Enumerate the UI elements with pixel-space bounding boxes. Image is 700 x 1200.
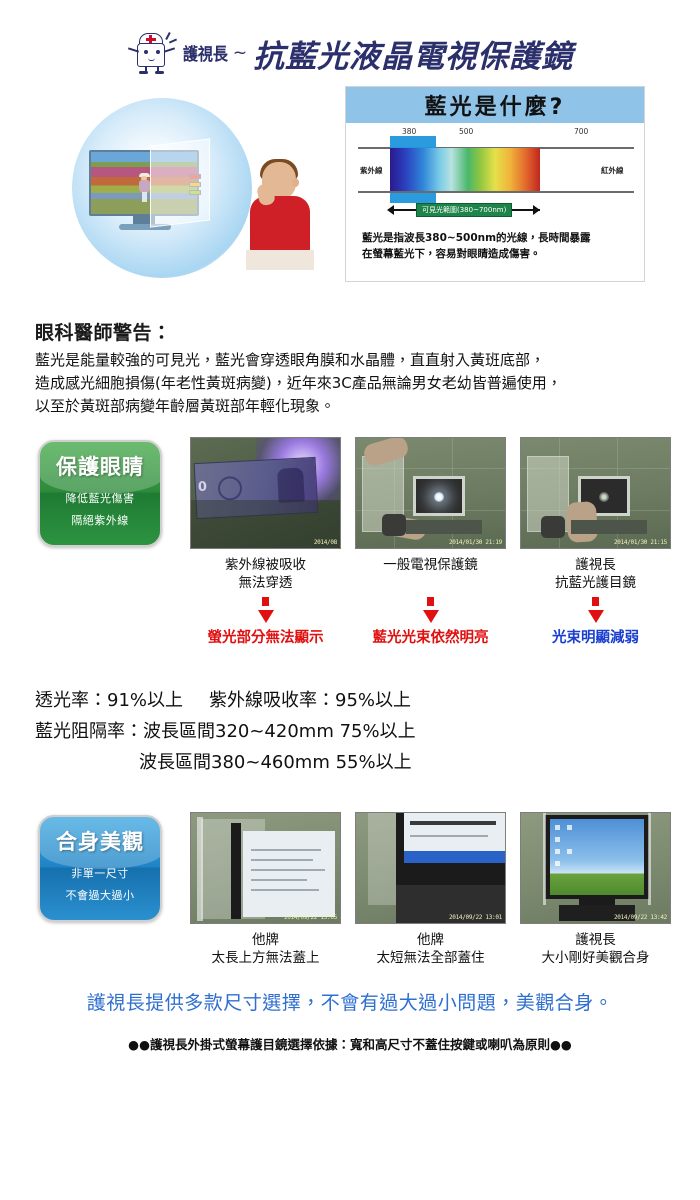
tick-380: 380 bbox=[402, 127, 416, 136]
spectrum-axis-bottom bbox=[358, 191, 634, 193]
size-tagline: 護視長提供多款尺寸選擇，不會有過大過小問題，美觀合身。 bbox=[0, 988, 700, 1015]
spec-line-3: 波長區間380~460mm 55%以上 bbox=[35, 748, 675, 779]
protect-conclusion-2: 藍光光束依然明亮 bbox=[355, 626, 506, 647]
nurse-mascot-icon bbox=[127, 30, 179, 76]
protect-conclusion-3: 光束明顯減弱 bbox=[520, 626, 671, 647]
selection-footnote: ●●護視長外掛式螢幕護目鏡選擇依據：寬和高尺寸不蓋住按鍵或喇叭為原則●● bbox=[0, 1034, 700, 1053]
photo-timestamp: 2014/09/22 13:01 bbox=[449, 914, 502, 921]
protect-photo-row: 0 2014/08 紫外線被吸收 無法穿透 螢光部分無法顯示 bbox=[190, 437, 670, 647]
protect-column-1: 0 2014/08 紫外線被吸收 無法穿透 螢光部分無法顯示 bbox=[190, 437, 341, 647]
visible-range-label: 可見光範圍(380~700nm) bbox=[416, 203, 512, 217]
fit-column-2: 2014/09/22 13:01 他牌 太短無法全部蓋住 bbox=[355, 812, 506, 967]
brand-mark: 護視長 bbox=[183, 41, 228, 65]
fit-caption-1: 他牌 太長上方無法蓋上 bbox=[190, 931, 341, 967]
caption-line-1: 他牌 bbox=[355, 931, 506, 949]
fit-caption-2: 他牌 太短無法全部蓋住 bbox=[355, 931, 506, 967]
caption-line-2: 無法穿透 bbox=[190, 574, 341, 592]
brand-flourish: ~ bbox=[233, 43, 247, 63]
info-card-heading: 藍光是什麼? bbox=[425, 89, 566, 121]
child-viewer-figure bbox=[250, 162, 310, 272]
protect-column-3: 2014/01/30 21:15 護視長 抗藍光護目鏡 光束明顯減弱 bbox=[520, 437, 671, 647]
ir-label: 紅外線 bbox=[601, 165, 624, 176]
tick-700: 700 bbox=[574, 127, 588, 136]
too-short-protector-photo: 2014/09/22 13:01 bbox=[355, 812, 506, 924]
huhsichang-protector-beam-photo: 2014/01/30 21:15 bbox=[520, 437, 671, 549]
caption-line-2 bbox=[355, 574, 506, 592]
eye-protection-section: 保護眼睛 降低藍光傷害 隔絕紫外線 0 2014/08 紫外線被吸收 無法穿透 bbox=[0, 437, 700, 662]
caption-line-1: 護視長 bbox=[520, 931, 671, 949]
doctor-warning-block: 眼科醫師警告： 藍光是能量較強的可見光，藍光會穿透眼角膜和水晶體，直直射入黃班底… bbox=[35, 318, 675, 417]
down-arrow-icon bbox=[355, 597, 506, 623]
transmittance-label: 透光率： bbox=[35, 690, 107, 711]
caption-line-1: 紫外線被吸收 bbox=[190, 556, 341, 574]
protect-conclusion-1: 螢光部分無法顯示 bbox=[190, 626, 341, 647]
fit-caption-3: 護視長 大小剛好美觀合身 bbox=[520, 931, 671, 967]
protect-caption-2: 一般電視保護鏡 bbox=[355, 556, 506, 592]
photo-timestamp: 2014/01/30 21:15 bbox=[614, 539, 667, 546]
protect-eyes-badge: 保護眼睛 降低藍光傷害 隔絕紫外線 bbox=[38, 440, 162, 547]
spectrum-diagram: 380 500 700 紫外線 紅外線 可見光範圍(380~700nm) bbox=[346, 123, 644, 228]
product-infographic-page: 護視長 ~ 抗藍光液晶電視保護鏡 bbox=[0, 0, 700, 1200]
caption-line-1: 一般電視保護鏡 bbox=[355, 556, 506, 574]
fit-badge-sub-1: 非單一尺寸 bbox=[46, 865, 154, 881]
visible-spectrum-band bbox=[390, 148, 540, 191]
protect-badge-sub-2: 隔絕紫外線 bbox=[46, 512, 154, 528]
protector-tabs-icon bbox=[189, 174, 201, 198]
caption-line-2: 太短無法全部蓋住 bbox=[355, 949, 506, 967]
warning-line-1: 藍光是能量較強的可見光，藍光會穿透眼角膜和水晶體，直直射入黃班底部， bbox=[35, 349, 675, 372]
caption-line-2: 太長上方無法蓋上 bbox=[190, 949, 341, 967]
specifications-block: 透光率：91%以上紫外線吸收率：95%以上 藍光阻隔率：波長區間320~420m… bbox=[35, 686, 675, 779]
uv-label: 紫外線 bbox=[360, 165, 383, 176]
page-header: 護視長 ~ 抗藍光液晶電視保護鏡 bbox=[0, 22, 700, 84]
blue-light-info-card: 藍光是什麼? 380 500 700 紫外線 紅外線 可見光範圍(380~700… bbox=[345, 86, 645, 282]
info-note-line-2: 在螢幕藍光下，容易對眼睛造成傷害。 bbox=[362, 246, 628, 262]
info-note-line-1: 藍光是指波長380~500nm的光線，長時間暴露 bbox=[362, 230, 628, 246]
fit-photo-row: 2014/09/22 13:05 他牌 太長上方無法蓋上 20 bbox=[190, 812, 670, 967]
uv-absorption-label: 紫外線吸收率： bbox=[209, 690, 335, 711]
hero-row: 藍光是什麼? 380 500 700 紫外線 紅外線 可見光範圍(380~700… bbox=[0, 86, 700, 296]
photo-timestamp: 2014/01/30 21:19 bbox=[449, 539, 502, 546]
range-arrow-left-icon bbox=[387, 205, 394, 215]
transmittance-value: 91%以上 bbox=[107, 690, 183, 711]
page-title: 抗藍光液晶電視保護鏡 bbox=[253, 31, 573, 76]
fit-badge-sub-2: 不會過大過小 bbox=[46, 887, 154, 903]
fit-column-1: 2014/09/22 13:05 他牌 太長上方無法蓋上 bbox=[190, 812, 341, 967]
photo-timestamp: 2014/09/22 13:42 bbox=[614, 914, 667, 921]
warning-heading: 眼科醫師警告： bbox=[35, 318, 675, 345]
photo-timestamp: 2014/09/22 13:05 bbox=[284, 914, 337, 921]
down-arrow-icon bbox=[520, 597, 671, 623]
warning-line-3: 以至於黃斑部病變年齡層黃斑部年輕化現象。 bbox=[35, 395, 675, 418]
fit-column-3: 2014/09/22 13:42 護視長 大小剛好美觀合身 bbox=[520, 812, 671, 967]
protect-caption-3: 護視長 抗藍光護目鏡 bbox=[520, 556, 671, 592]
info-card-header: 藍光是什麼? bbox=[346, 87, 644, 123]
caption-line-2: 抗藍光護目鏡 bbox=[520, 574, 671, 592]
fit-badge-title: 合身美觀 bbox=[46, 826, 154, 856]
spec-line-1: 透光率：91%以上紫外線吸收率：95%以上 bbox=[35, 686, 675, 717]
fit-beauty-badge: 合身美觀 非單一尺寸 不會過大過小 bbox=[38, 815, 162, 922]
protect-badge-sub-1: 降低藍光傷害 bbox=[46, 490, 154, 506]
tv-usage-photo bbox=[62, 90, 334, 290]
spec-line-2: 藍光阻隔率：波長區間320~420mm 75%以上 bbox=[35, 717, 675, 748]
too-long-protector-photo: 2014/09/22 13:05 bbox=[190, 812, 341, 924]
perfect-fit-protector-photo: 2014/09/22 13:42 bbox=[520, 812, 671, 924]
down-arrow-icon bbox=[190, 597, 341, 623]
info-card-note: 藍光是指波長380~500nm的光線，長時間暴露 在螢幕藍光下，容易對眼睛造成傷… bbox=[346, 228, 644, 263]
caption-line-1: 護視長 bbox=[520, 556, 671, 574]
warning-line-2: 造成感光細胞損傷(年老性黃斑病變)，近年來3C產品無論男女老幼皆普遍使用， bbox=[35, 372, 675, 395]
caption-line-2: 大小剛好美觀合身 bbox=[520, 949, 671, 967]
size-fit-section: 合身美觀 非單一尺寸 不會過大過小 2014/09/22 13:05 bbox=[0, 812, 700, 977]
protect-caption-1: 紫外線被吸收 無法穿透 bbox=[190, 556, 341, 592]
range-arrow-right-icon bbox=[533, 205, 540, 215]
tick-500: 500 bbox=[459, 127, 473, 136]
caption-line-1: 他牌 bbox=[190, 931, 341, 949]
protect-badge-title: 保護眼睛 bbox=[46, 451, 154, 481]
uv-absorption-value: 95%以上 bbox=[335, 690, 411, 711]
normal-protector-beam-photo: 2014/01/30 21:19 bbox=[355, 437, 506, 549]
uv-banknote-photo: 0 2014/08 bbox=[190, 437, 341, 549]
screen-protector-sheet bbox=[150, 138, 210, 227]
photo-timestamp: 2014/08 bbox=[314, 539, 337, 546]
protect-column-2: 2014/01/30 21:19 一般電視保護鏡 藍光光束依然明亮 bbox=[355, 437, 506, 647]
